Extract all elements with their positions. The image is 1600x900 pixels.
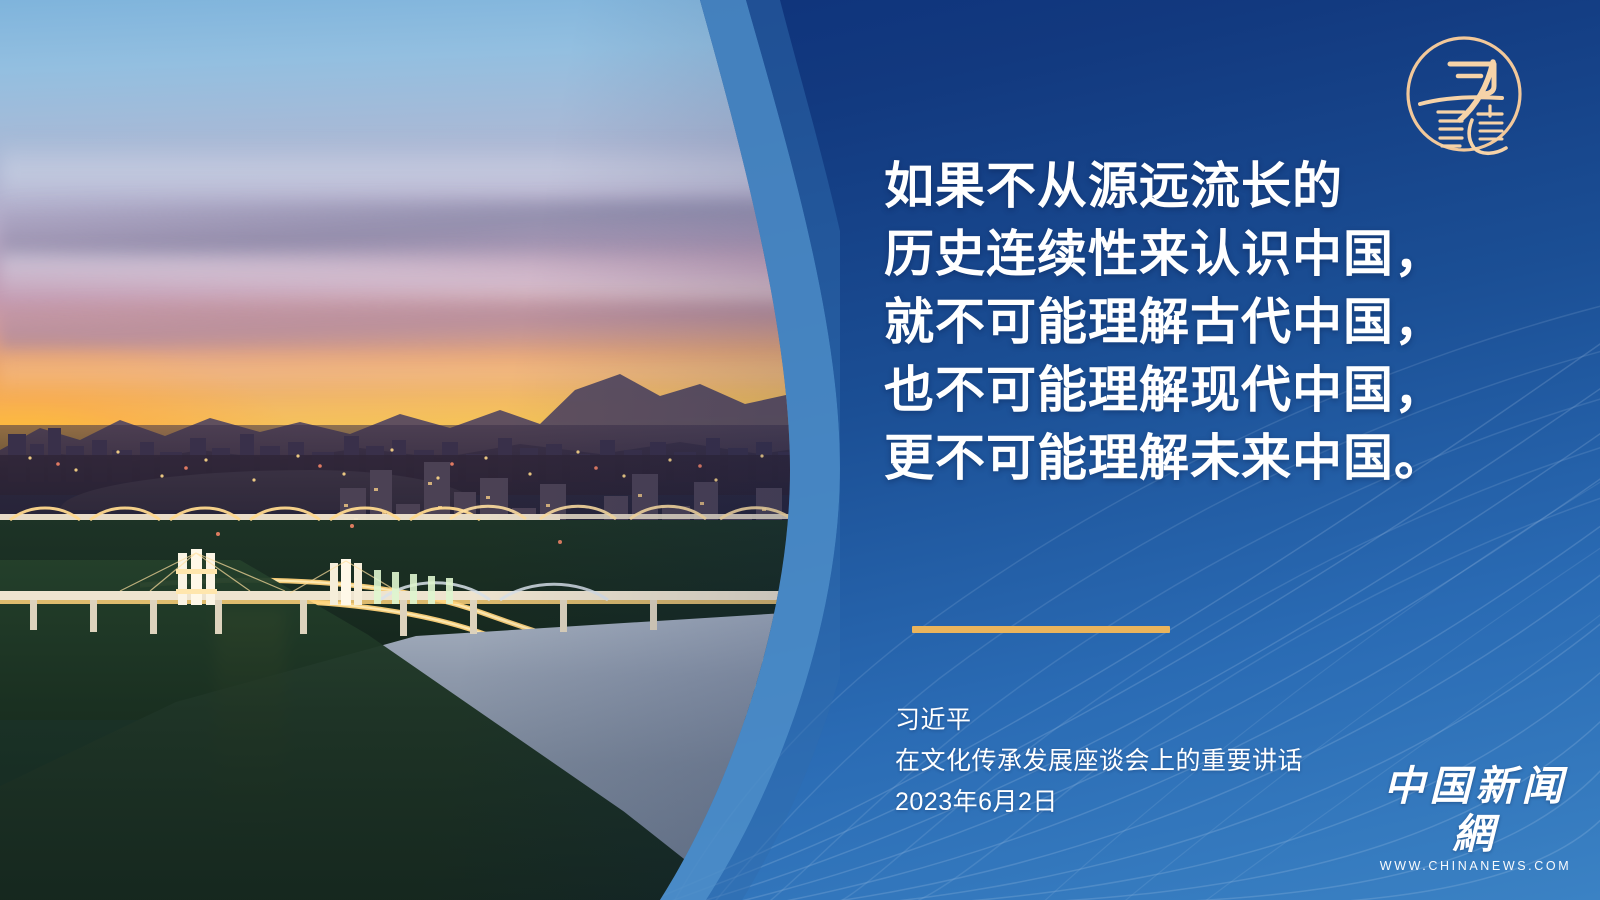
gold-divider [912, 626, 1170, 633]
chinanews-logo[interactable]: 中国新闻網 WWW.CHINANEWS.COM [1368, 762, 1583, 840]
quote-line-4: 也不可能理解现代中国， [884, 356, 1504, 424]
quote-text: 如果不从源远流长的 历史连续性来认识中国， 就不可能理解古代中国， 也不可能理解… [884, 152, 1504, 492]
chinanews-url: WWW.CHINANEWS.COM [1368, 859, 1583, 873]
quote-line-3: 就不可能理解古代中国， [884, 288, 1504, 356]
riverside-city-sunset-photo [0, 0, 840, 900]
attribution-speaker: 习近平 [895, 700, 1455, 741]
chinanews-wordmark: 中国新闻網 [1368, 762, 1583, 858]
xi-yan-dao-seal-icon [1398, 28, 1530, 160]
quote-line-1: 如果不从源远流长的 [884, 152, 1504, 220]
poster-canvas: 如果不从源远流长的 历史连续性来认识中国， 就不可能理解古代中国， 也不可能理解… [0, 0, 1600, 900]
quote-line-5: 更不可能理解未来中国。 [884, 424, 1504, 492]
photo-color-grade [0, 0, 800, 900]
quote-line-2: 历史连续性来认识中国， [884, 220, 1504, 288]
